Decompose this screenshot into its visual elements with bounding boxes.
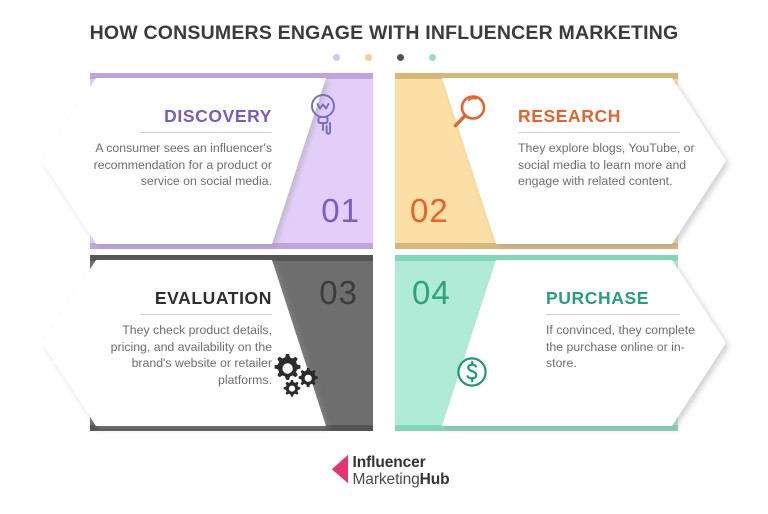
logo-line-influencer: Influencer (353, 455, 450, 472)
logo-wordmark: Influencer MarketingHub (353, 455, 450, 488)
footer-logo[interactable]: Influencer MarketingHub (0, 452, 768, 491)
header: HOW CONSUMERS ENGAGE WITH INFLUENCER MAR… (0, 22, 768, 61)
purchase-content: PURCHASE If convinced, they complete the… (388, 252, 732, 434)
logo-marketing-text: Marketing (353, 471, 420, 488)
step-heading-discovery: DISCOVERY (164, 106, 272, 127)
step-number-discovery: 01 (321, 192, 360, 230)
logo-inner: Influencer MarketingHub (319, 452, 450, 491)
evaluation-content: EVALUATION They check product details, p… (36, 252, 380, 434)
dot-orange (365, 54, 372, 61)
step-number-research: 02 (410, 192, 449, 230)
gears-icon (268, 350, 322, 398)
page-title: HOW CONSUMERS ENGAGE WITH INFLUENCER MAR… (0, 22, 768, 45)
step-panel-research[interactable]: RESEARCH They explore blogs, YouTube, or… (388, 70, 732, 252)
step-heading-research: RESEARCH (518, 106, 621, 127)
dot-row (0, 54, 768, 61)
magnifier-icon (450, 92, 490, 134)
step-body-evaluation: They check product details, pricing, and… (82, 322, 272, 388)
logo-hub-text: Hub (420, 471, 450, 488)
research-content: RESEARCH They explore blogs, YouTube, or… (388, 70, 732, 252)
dot-teal (429, 54, 436, 61)
dollar-circle-icon (454, 354, 490, 390)
step-number-purchase: 04 (412, 274, 451, 312)
research-heading-rule (518, 132, 680, 133)
step-heading-evaluation: EVALUATION (155, 288, 272, 309)
dot-gray (397, 54, 404, 61)
evaluation-heading-rule (140, 314, 272, 315)
step-heading-purchase: PURCHASE (546, 288, 649, 309)
step-number-evaluation: 03 (319, 274, 358, 312)
dot-purple (333, 54, 340, 61)
step-panel-discovery[interactable]: DISCOVERY A consumer sees an influencer'… (36, 70, 380, 252)
step-body-purchase: If convinced, they complete the purchase… (546, 322, 704, 372)
discovery-content: DISCOVERY A consumer sees an influencer'… (36, 70, 380, 252)
step-body-discovery: A consumer sees an influencer's recommen… (86, 140, 272, 190)
purchase-heading-rule (546, 314, 680, 315)
influencer-marketing-hub-arrow-icon (319, 452, 349, 491)
step-body-research: They explore blogs, YouTube, or social m… (518, 140, 700, 190)
lightbulb-icon (306, 92, 340, 138)
step-panel-purchase[interactable]: PURCHASE If convinced, they complete the… (388, 252, 732, 434)
infographic-root: HOW CONSUMERS ENGAGE WITH INFLUENCER MAR… (0, 0, 768, 514)
discovery-heading-rule (140, 132, 272, 133)
logo-line-marketinghub: MarketingHub (353, 472, 450, 489)
step-panel-evaluation[interactable]: EVALUATION They check product details, p… (36, 252, 380, 434)
